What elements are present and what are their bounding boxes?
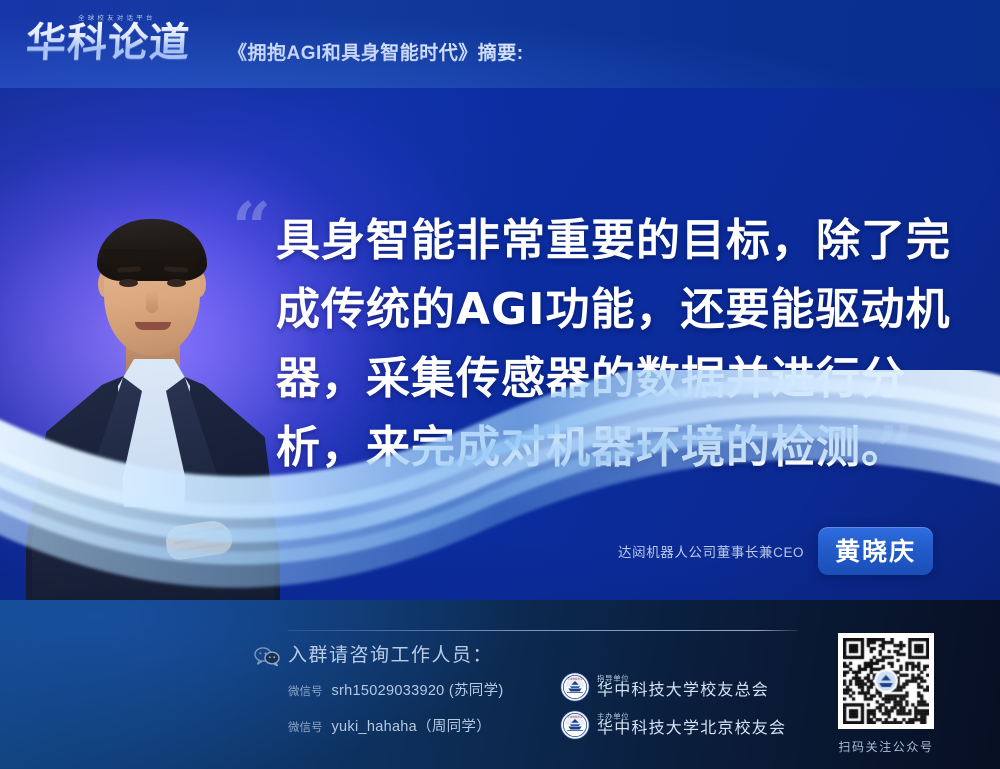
attribution: 达闼机器人公司董事长兼CEO 黄晓庆 xyxy=(618,534,933,568)
organization-name: 华中科技大学校友总会 xyxy=(597,683,769,700)
organization-name: 华中科技大学北京校友会 xyxy=(597,721,786,738)
footer-divider xyxy=(288,630,798,631)
wechat-icon xyxy=(254,646,280,666)
logo-tagline: 全球校友对话平台 xyxy=(78,12,156,22)
quote-line: 器，采集传感器的数据并进行分 xyxy=(276,344,944,413)
hust-seal-icon: 华中科技大学 xyxy=(560,672,590,702)
qr-block[interactable]: 扫码关注公众号 xyxy=(838,633,934,755)
hust-seal-icon: 华中科技大学 xyxy=(560,710,590,740)
brand-logo[interactable]: 全球校友对话平台 华科论道 xyxy=(26,12,226,74)
hero-stage: “ 具身智能非常重要的目标，除了完 成传统的AGI功能，还要能驱动机 器，采集传… xyxy=(0,88,1000,623)
logo-wordmark: 华科论道 xyxy=(25,20,191,66)
organization-row: 华中科技大学 指导单位 华中科技大学校友总会 xyxy=(560,672,769,702)
contact-label: 微信号 xyxy=(288,683,323,699)
header-bar: 全球校友对话平台 华科论道 《拥抱AGI和具身智能时代》摘要: xyxy=(0,0,1000,88)
portrait-hair xyxy=(97,219,207,281)
organization-row: 华中科技大学 主办单位 华中科技大学北京校友会 xyxy=(560,710,786,740)
qr-caption: 扫码关注公众号 xyxy=(838,738,934,755)
contact-label: 微信号 xyxy=(288,719,323,735)
speaker-role: 达闼机器人公司董事长兼CEO xyxy=(618,541,804,561)
page-title: 《拥抱AGI和具身智能时代》摘要: xyxy=(228,38,524,65)
svg-text:华中科技大学: 华中科技大学 xyxy=(567,715,583,719)
footer-title: 入群请咨询工作人员： xyxy=(288,640,493,667)
portrait-mouth xyxy=(135,322,171,330)
contact-row[interactable]: 微信号 yuki_hahaha（周同学） xyxy=(288,715,491,736)
quote-line: 成传统的AGI功能，还要能驱动机 xyxy=(276,275,944,344)
portrait-nose xyxy=(146,291,158,313)
portrait-eye-left xyxy=(119,279,138,287)
speaker-name-badge: 黄晓庆 xyxy=(818,527,933,575)
qr-code-icon[interactable] xyxy=(838,633,934,729)
speaker-portrait xyxy=(18,209,286,623)
svg-text:华中科技大学: 华中科技大学 xyxy=(567,677,583,681)
quote-line: 具身智能非常重要的目标，除了完 xyxy=(276,206,944,275)
quote-open-mark: “ xyxy=(232,194,271,262)
quote-line: 析，来完成对机器环境的检测。 xyxy=(276,413,944,482)
contact-value: yuki_hahaha（周同学） xyxy=(332,715,492,736)
contact-value: srh15029033920 (苏同学) xyxy=(332,679,504,700)
poster-canvas: 全球校友对话平台 华科论道 《拥抱AGI和具身智能时代》摘要: xyxy=(0,0,1000,769)
quote-close-mark: ” xyxy=(875,418,914,486)
contact-row[interactable]: 微信号 srh15029033920 (苏同学) xyxy=(288,679,504,700)
portrait-eye-right xyxy=(167,279,186,287)
quote-text: 具身智能非常重要的目标，除了完 成传统的AGI功能，还要能驱动机 器，采集传感器… xyxy=(276,206,944,482)
